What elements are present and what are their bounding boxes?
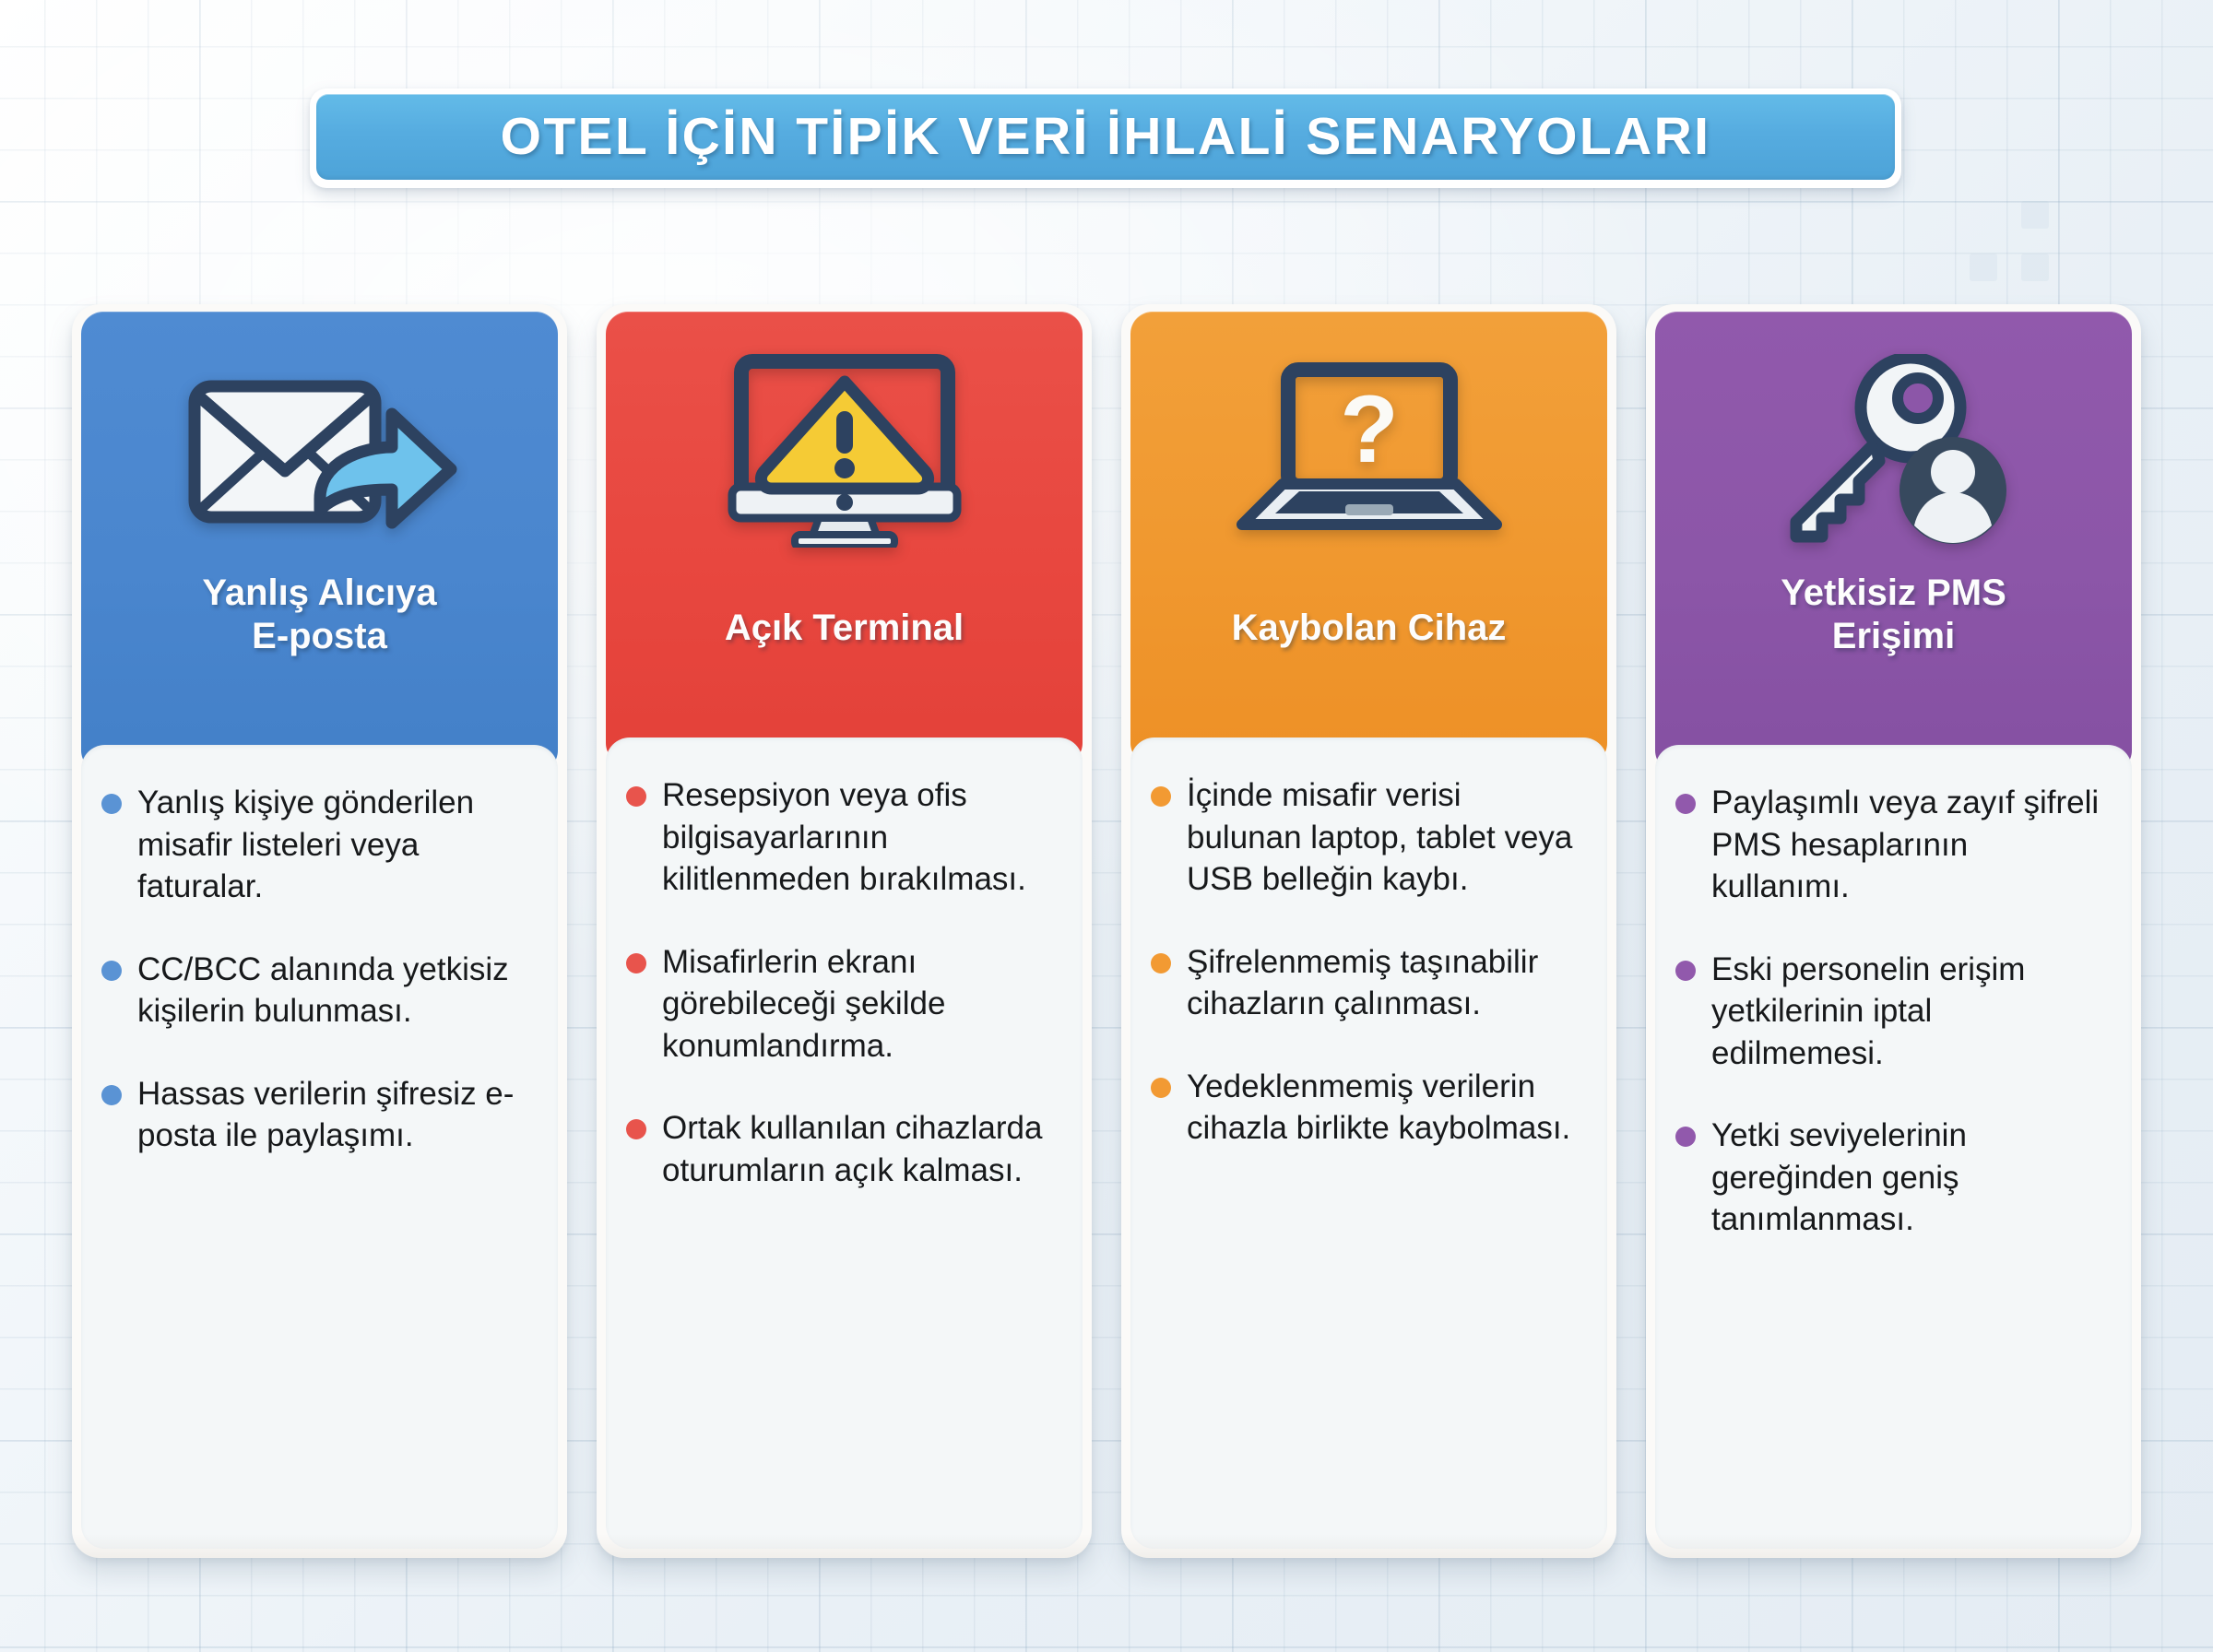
list-item: Paylaşımlı veya zayıf şifreli PMS hesapl… <box>1675 782 2108 908</box>
card-title: Açık Terminal <box>712 607 976 650</box>
svg-text:?: ? <box>1340 376 1399 483</box>
bullet-text: Yetki seviyelerinin gereğinden geniş tan… <box>1711 1115 2108 1241</box>
bullet-text: Eski personelin erişim yetkilerinin ipta… <box>1711 949 2108 1075</box>
scenario-card-wrong-recipient-email[interactable]: Yanlış Alıcıya E-posta Yanlış kişiye gön… <box>72 304 567 1558</box>
list-item: CC/BCC alanında yetkisiz kişilerin bulun… <box>101 949 534 1032</box>
card-body: Resepsiyon veya ofis bilgisayarlarının k… <box>606 737 1083 1549</box>
bullet-text: Yedeklenmemiş verilerin cihazla birlikte… <box>1187 1066 1583 1150</box>
background-accent-square <box>2021 254 2049 281</box>
card-body: İçinde misafir verisi bulunan laptop, ta… <box>1130 737 1607 1549</box>
bullet-text: CC/BCC alanında yetkisiz kişilerin bulun… <box>137 949 534 1032</box>
list-item: Misafirlerin ekranı görebileceği şekilde… <box>626 941 1059 1068</box>
list-item: Yanlış kişiye gönderilen misafir listele… <box>101 782 534 908</box>
bullet-text: Ortak kullanılan cihazlarda oturumların … <box>662 1107 1059 1191</box>
bullet-text: Şifrelenmemiş taşınabilir cihazların çal… <box>1187 941 1583 1025</box>
scenario-card-grid: Yanlış Alıcıya E-posta Yanlış kişiye gön… <box>72 304 2141 1558</box>
card-title: Kaybolan Cihaz <box>1219 607 1520 650</box>
page-title-banner: OTEL İÇİN TİPİK VERİ İHLALİ SENARYOLARI <box>310 88 1901 188</box>
card-header: Açık Terminal <box>606 312 1083 765</box>
bullet-dot-icon <box>626 953 646 973</box>
page-title: OTEL İÇİN TİPİK VERİ İHLALİ SENARYOLARI <box>501 111 1711 163</box>
bullet-list: İçinde misafir verisi bulunan laptop, ta… <box>1151 774 1583 1150</box>
monitor-warning-icon <box>606 336 1083 566</box>
list-item: Hassas verilerin şifresiz e-posta ile pa… <box>101 1073 534 1157</box>
list-item: Ortak kullanılan cihazlarda oturumların … <box>626 1107 1059 1191</box>
bullet-text: Yanlış kişiye gönderilen misafir listele… <box>137 782 534 908</box>
bullet-dot-icon <box>1675 961 1696 981</box>
scenario-card-open-terminal[interactable]: Açık Terminal Resepsiyon veya ofis bilgi… <box>597 304 1092 1558</box>
scenario-card-lost-device[interactable]: ? Kaybolan Cihaz İçinde misafir verisi b… <box>1121 304 1616 1558</box>
list-item: Eski personelin erişim yetkilerinin ipta… <box>1675 949 2108 1075</box>
scenario-card-unauthorized-pms-access[interactable]: Yetkisiz PMS Erişimi Paylaşımlı veya zay… <box>1646 304 2141 1558</box>
bullet-dot-icon <box>1151 786 1171 807</box>
card-header: Yanlış Alıcıya E-posta <box>81 312 558 773</box>
card-header: ? Kaybolan Cihaz <box>1130 312 1607 765</box>
card-title: Yetkisiz PMS Erişimi <box>1768 572 2019 658</box>
bullet-dot-icon <box>1151 953 1171 973</box>
bullet-text: Misafirlerin ekranı görebileceği şekilde… <box>662 941 1059 1068</box>
title-banner-fill: OTEL İÇİN TİPİK VERİ İHLALİ SENARYOLARI <box>316 94 1895 180</box>
bullet-dot-icon <box>1675 794 1696 814</box>
bullet-text: Paylaşımlı veya zayıf şifreli PMS hesapl… <box>1711 782 2108 908</box>
list-item: Yetki seviyelerinin gereğinden geniş tan… <box>1675 1115 2108 1241</box>
bullet-list: Resepsiyon veya ofis bilgisayarlarının k… <box>626 774 1059 1191</box>
bullet-list: Yanlış kişiye gönderilen misafir listele… <box>101 782 534 1157</box>
card-title-line2: Erişimi <box>1832 616 1955 656</box>
envelope-forward-icon <box>81 336 558 566</box>
bullet-dot-icon <box>1151 1078 1171 1098</box>
bullet-dot-icon <box>101 1085 122 1105</box>
card-body: Yanlış kişiye gönderilen misafir listele… <box>81 745 558 1549</box>
card-header: Yetkisiz PMS Erişimi <box>1655 312 2132 773</box>
card-title-line1: Kaybolan Cihaz <box>1232 608 1507 648</box>
card-title-line1: Yetkisiz PMS <box>1781 572 2006 613</box>
list-item: İçinde misafir verisi bulunan laptop, ta… <box>1151 774 1583 901</box>
bullet-text: Hassas verilerin şifresiz e-posta ile pa… <box>137 1073 534 1157</box>
card-title-line2: E-posta <box>252 616 387 656</box>
bullet-text: Resepsiyon veya ofis bilgisayarlarının k… <box>662 774 1059 901</box>
card-title-line1: Yanlış Alıcıya <box>202 572 436 613</box>
list-item: Yedeklenmemiş verilerin cihazla birlikte… <box>1151 1066 1583 1150</box>
key-user-icon <box>1655 336 2132 566</box>
bullet-dot-icon <box>626 786 646 807</box>
bullet-dot-icon <box>626 1119 646 1139</box>
card-title: Yanlış Alıcıya E-posta <box>189 572 449 658</box>
bullet-dot-icon <box>101 794 122 814</box>
list-item: Şifrelenmemiş taşınabilir cihazların çal… <box>1151 941 1583 1025</box>
background-accent-square <box>2021 201 2049 229</box>
background-accent-square <box>1970 254 1997 281</box>
list-item: Resepsiyon veya ofis bilgisayarlarının k… <box>626 774 1059 901</box>
laptop-question-icon: ? <box>1130 336 1607 566</box>
card-title-line1: Açık Terminal <box>725 608 964 648</box>
bullet-list: Paylaşımlı veya zayıf şifreli PMS hesapl… <box>1675 782 2108 1241</box>
card-body: Paylaşımlı veya zayıf şifreli PMS hesapl… <box>1655 745 2132 1549</box>
bullet-dot-icon <box>101 961 122 981</box>
bullet-dot-icon <box>1675 1127 1696 1147</box>
bullet-text: İçinde misafir verisi bulunan laptop, ta… <box>1187 774 1583 901</box>
